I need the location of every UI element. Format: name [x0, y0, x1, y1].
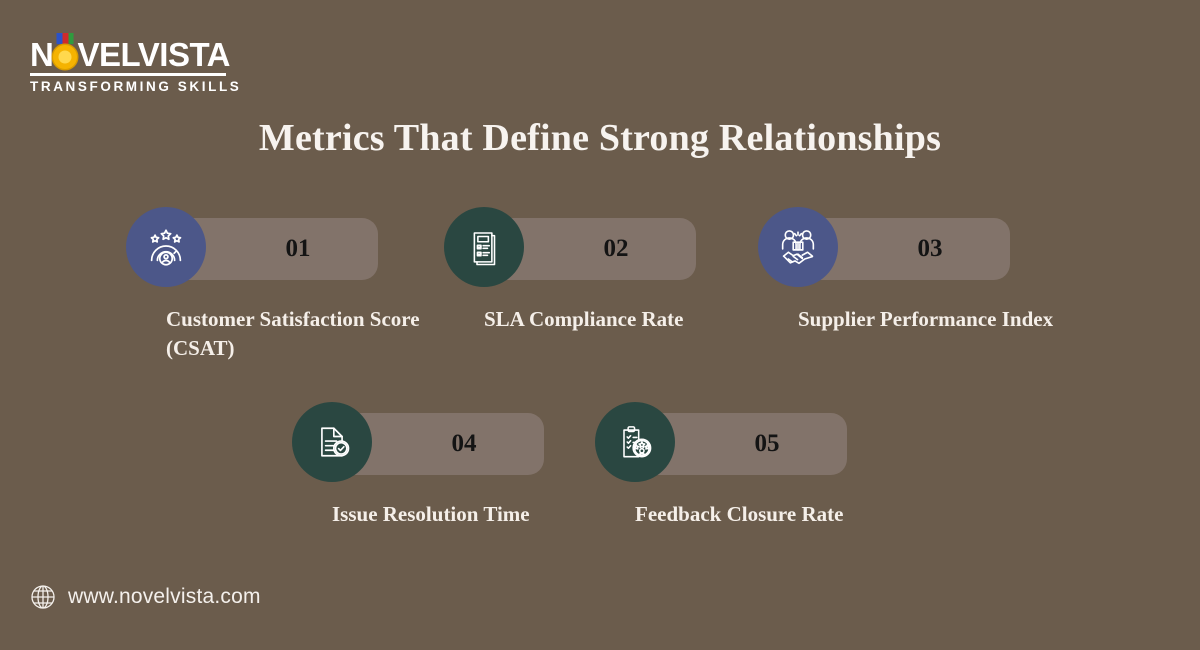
metric-pill: 04: [332, 413, 544, 475]
metric-number: 05: [755, 430, 780, 458]
metric-card[interactable]: 01 Customer Satisfaction Score (CSAT): [126, 218, 378, 363]
metric-card[interactable]: 05 Feedback Closure Rate: [595, 413, 847, 529]
metric-label: Issue Resolution Time: [332, 500, 547, 529]
metric-pill: 01: [166, 218, 378, 280]
ribbon-green-stripe: [68, 33, 74, 44]
page-title: Metrics That Define Strong Relationships: [0, 116, 1200, 160]
brand-wordmark: N VELVISTA: [30, 38, 230, 70]
metric-number: 01: [286, 235, 311, 263]
metric-number: 03: [918, 235, 943, 263]
metric-card[interactable]: 02 SLA Compliance Rate: [444, 218, 696, 334]
metric-number: 04: [452, 430, 477, 458]
medal-icon: [53, 39, 77, 70]
metric-card[interactable]: 03 Supplier Performance Index: [758, 218, 1010, 334]
metric-pill: 02: [484, 218, 696, 280]
metric-label: Feedback Closure Rate: [635, 500, 850, 529]
metric-card[interactable]: 04 Issue Resolution Time: [292, 413, 544, 529]
supplier-handshake-icon: [758, 207, 838, 287]
satisfaction-gauge-icon: [126, 207, 206, 287]
brand-name-prefix: N: [30, 38, 53, 71]
medal-disc: [53, 45, 77, 69]
logo-divider: [30, 73, 226, 76]
checklist-document-icon: [444, 207, 524, 287]
metric-label: Supplier Performance Index: [798, 305, 1073, 334]
metric-label: Customer Satisfaction Score (CSAT): [166, 305, 441, 363]
metric-number: 02: [604, 235, 629, 263]
website-url[interactable]: www.novelvista.com: [68, 585, 261, 609]
metric-pill: 03: [798, 218, 1010, 280]
globe-icon: [30, 584, 56, 610]
footer: www.novelvista.com: [30, 584, 261, 610]
brand-logo[interactable]: N VELVISTA TRANSFORMING SKILLS: [30, 38, 230, 94]
metric-pill: 05: [635, 413, 847, 475]
brand-tagline: TRANSFORMING SKILLS: [30, 79, 230, 94]
document-check-icon: [292, 402, 372, 482]
feedback-clipboard-icon: [595, 402, 675, 482]
ribbon-icon: [57, 33, 74, 44]
metric-label: SLA Compliance Rate: [484, 305, 699, 334]
brand-name-suffix: VELVISTA: [78, 38, 230, 71]
